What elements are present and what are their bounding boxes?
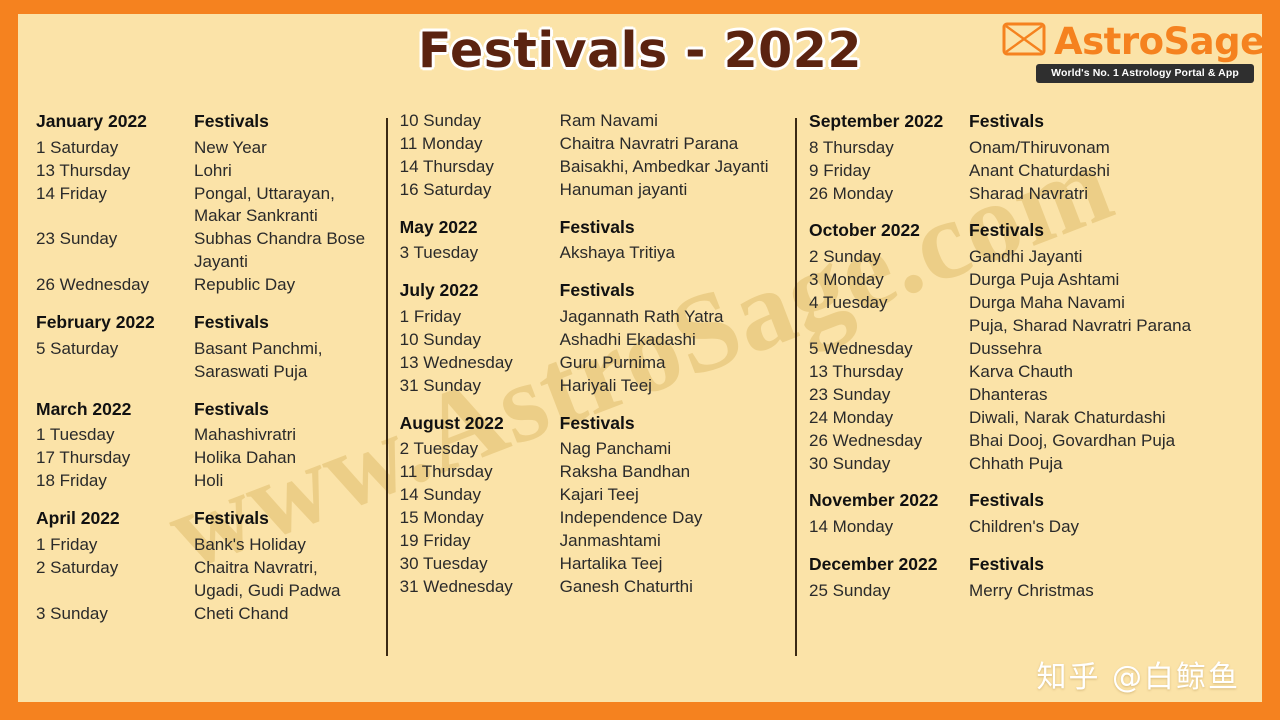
festival-row: 30 SundayChhath Puja (809, 453, 1244, 476)
festival-row: 9 FridayAnant Chaturdashi (809, 160, 1244, 183)
month-header-row: October 2022Festivals (809, 219, 1244, 243)
festival-row: 3 TuesdayAkshaya Tritiya (400, 242, 781, 265)
festival-row: 15 MondayIndependence Day (400, 507, 781, 530)
month-label: August 2022 (400, 412, 560, 436)
festival-date: 19 Friday (400, 530, 560, 553)
festival-date: 14 Thursday (400, 156, 560, 179)
astrosage-logo[interactable]: AstroSage World's No. 1 Astrology Portal… (1002, 22, 1254, 83)
festivals-column-header: Festivals (969, 553, 1244, 577)
festival-date: 3 Tuesday (400, 242, 560, 265)
festival-row: 1 FridayJagannath Rath Yatra (400, 306, 781, 329)
festival-row: 31 WednesdayGanesh Chaturthi (400, 576, 781, 599)
festival-date: 23 Sunday (36, 228, 194, 251)
festivals-column-header: Festivals (969, 489, 1244, 513)
festival-date: 30 Tuesday (400, 553, 560, 576)
festival-row: 13 ThursdayLohri (36, 160, 372, 183)
month-label: September 2022 (809, 110, 969, 134)
festival-date: 13 Thursday (809, 361, 969, 384)
month-block: August 2022Festivals2 TuesdayNag Pancham… (400, 412, 781, 599)
festival-name: Lohri (194, 160, 372, 183)
festival-date: 13 Wednesday (400, 352, 560, 375)
column-2: 10 SundayRam Navami11 MondayChaitra Navr… (386, 110, 795, 670)
festival-name: Hartalika Teej (560, 553, 781, 576)
month-block: February 2022Festivals5 SaturdayBasant P… (36, 311, 372, 384)
festival-date: 31 Sunday (400, 375, 560, 398)
month-block: April 2022Festivals1 FridayBank's Holida… (36, 507, 372, 625)
month-block: September 2022Festivals8 ThursdayOnam/Th… (809, 110, 1244, 205)
festival-row: 2 SundayGandhi Jayanti (809, 246, 1244, 269)
festival-name: Karva Chauth (969, 361, 1244, 384)
festival-name: Onam/Thiruvonam (969, 137, 1244, 160)
festival-row: 1 SaturdayNew Year (36, 137, 372, 160)
festival-name: Chaitra Navratri, Ugadi, Gudi Padwa (194, 557, 372, 603)
festival-date: 5 Saturday (36, 338, 194, 361)
festivals-column-header: Festivals (969, 110, 1244, 134)
poster-sheet: www.AstroSage.com Festivals - 2022 Astro… (18, 14, 1262, 702)
festival-row: 13 WednesdayGuru Purnima (400, 352, 781, 375)
festival-name: Raksha Bandhan (560, 461, 781, 484)
festival-date: 13 Thursday (36, 160, 194, 183)
month-block: March 2022Festivals1 TuesdayMahashivratr… (36, 398, 372, 493)
festival-date: 31 Wednesday (400, 576, 560, 599)
festival-name: Janmashtami (560, 530, 781, 553)
festival-date: 2 Saturday (36, 557, 194, 580)
festival-date: 2 Tuesday (400, 438, 560, 461)
festival-name: Holi (194, 470, 372, 493)
festival-row: 8 ThursdayOnam/Thiruvonam (809, 137, 1244, 160)
month-label: November 2022 (809, 489, 969, 513)
festival-name: Hanuman jayanti (560, 179, 781, 202)
festival-date: 26 Monday (809, 183, 969, 206)
festival-date: 9 Friday (809, 160, 969, 183)
month-block: 10 SundayRam Navami11 MondayChaitra Navr… (400, 110, 781, 202)
festival-row: 5 SaturdayBasant Panchmi, Saraswati Puja (36, 338, 372, 384)
festivals-column-header: Festivals (194, 507, 372, 531)
month-label: March 2022 (36, 398, 194, 422)
festival-row: 10 SundayRam Navami (400, 110, 781, 133)
festival-row: 14 SundayKajari Teej (400, 484, 781, 507)
festival-date: 5 Wednesday (809, 338, 969, 361)
festival-date: 1 Friday (36, 534, 194, 557)
festival-name: Bank's Holiday (194, 534, 372, 557)
festival-row: 13 ThursdayKarva Chauth (809, 361, 1244, 384)
festival-date: 11 Monday (400, 133, 560, 156)
festival-name: Mahashivratri (194, 424, 372, 447)
festival-name: Ram Navami (560, 110, 781, 133)
festivals-column-header: Festivals (560, 216, 781, 240)
festivals-column-header: Festivals (194, 110, 372, 134)
festival-row: 25 SundayMerry Christmas (809, 580, 1244, 603)
month-label: July 2022 (400, 279, 560, 303)
month-header-row: December 2022Festivals (809, 553, 1244, 577)
festival-row: 26 MondaySharad Navratri (809, 183, 1244, 206)
month-header-row: November 2022Festivals (809, 489, 1244, 513)
festival-row: 14 FridayPongal, Uttarayan, Makar Sankra… (36, 183, 372, 229)
festival-date: 11 Thursday (400, 461, 560, 484)
festival-name: Ashadhi Ekadashi (560, 329, 781, 352)
festival-date: 23 Sunday (809, 384, 969, 407)
festival-date: 3 Monday (809, 269, 969, 292)
month-label: May 2022 (400, 216, 560, 240)
festival-row: 11 ThursdayRaksha Bandhan (400, 461, 781, 484)
festival-name: Baisakhi, Ambedkar Jayanti (560, 156, 781, 179)
festival-date: 10 Sunday (400, 110, 560, 133)
festival-date: 25 Sunday (809, 580, 969, 603)
festival-name: Diwali, Narak Chaturdashi (969, 407, 1244, 430)
festival-row: 30 TuesdayHartalika Teej (400, 553, 781, 576)
month-header-row: February 2022Festivals (36, 311, 372, 335)
festival-name: Ganesh Chaturthi (560, 576, 781, 599)
festival-date: 16 Saturday (400, 179, 560, 202)
logo-tagline: World's No. 1 Astrology Portal & App (1036, 64, 1254, 83)
festival-date: 1 Saturday (36, 137, 194, 160)
festival-row: 3 SundayCheti Chand (36, 603, 372, 626)
zhihu-watermark: 知乎 @白鲸鱼 (1036, 652, 1240, 696)
festival-row: 17 ThursdayHolika Dahan (36, 447, 372, 470)
festival-name: Durga Maha Navami Puja, Sharad Navratri … (969, 292, 1244, 338)
festival-name: Akshaya Tritiya (560, 242, 781, 265)
festival-date: 14 Sunday (400, 484, 560, 507)
festival-name: Hariyali Teej (560, 375, 781, 398)
festival-date: 26 Wednesday (809, 430, 969, 453)
festival-row: 11 MondayChaitra Navratri Parana (400, 133, 781, 156)
festival-name: Chhath Puja (969, 453, 1244, 476)
festival-row: 1 TuesdayMahashivratri (36, 424, 372, 447)
festivals-column-header: Festivals (969, 219, 1244, 243)
festival-row: 23 SundayDhanteras (809, 384, 1244, 407)
month-label: December 2022 (809, 553, 969, 577)
month-header-row: September 2022Festivals (809, 110, 1244, 134)
festival-name: Merry Christmas (969, 580, 1244, 603)
festival-date: 2 Sunday (809, 246, 969, 269)
festival-row: 26 WednesdayBhai Dooj, Govardhan Puja (809, 430, 1244, 453)
festival-name: Independence Day (560, 507, 781, 530)
festival-row: 18 FridayHoli (36, 470, 372, 493)
festival-row: 1 FridayBank's Holiday (36, 534, 372, 557)
festival-row: 31 SundayHariyali Teej (400, 375, 781, 398)
month-label: April 2022 (36, 507, 194, 531)
festival-name: Guru Purnima (560, 352, 781, 375)
festival-name: Bhai Dooj, Govardhan Puja (969, 430, 1244, 453)
column-1: January 2022Festivals1 SaturdayNew Year1… (22, 110, 386, 670)
month-label: February 2022 (36, 311, 194, 335)
month-header-row: May 2022Festivals (400, 216, 781, 240)
festival-date: 18 Friday (36, 470, 194, 493)
festival-name: Chaitra Navratri Parana (560, 133, 781, 156)
festival-row: 26 WednesdayRepublic Day (36, 274, 372, 297)
festival-name: Dhanteras (969, 384, 1244, 407)
festival-row: 2 TuesdayNag Panchami (400, 438, 781, 461)
festival-name: Holika Dahan (194, 447, 372, 470)
festival-date: 10 Sunday (400, 329, 560, 352)
festival-row: 24 MondayDiwali, Narak Chaturdashi (809, 407, 1244, 430)
festival-row: 14 MondayChildren's Day (809, 516, 1244, 539)
festival-name: New Year (194, 137, 372, 160)
festival-date: 26 Wednesday (36, 274, 194, 297)
festival-name: Durga Puja Ashtami (969, 269, 1244, 292)
festival-name: Dussehra (969, 338, 1244, 361)
month-block: October 2022Festivals2 SundayGandhi Jaya… (809, 219, 1244, 475)
festival-row: 4 TuesdayDurga Maha Navami Puja, Sharad … (809, 292, 1244, 338)
column-3: September 2022Festivals8 ThursdayOnam/Th… (795, 110, 1258, 670)
festival-columns: January 2022Festivals1 SaturdayNew Year1… (18, 110, 1262, 670)
logo-wordmark: AstroSage (1054, 23, 1262, 60)
festival-name: Cheti Chand (194, 603, 372, 626)
festivals-column-header: Festivals (194, 311, 372, 335)
month-label: January 2022 (36, 110, 194, 134)
month-label: October 2022 (809, 219, 969, 243)
month-header-row: July 2022Festivals (400, 279, 781, 303)
festival-row: 16 SaturdayHanuman jayanti (400, 179, 781, 202)
festival-row: 10 SundayAshadhi Ekadashi (400, 329, 781, 352)
festival-name: Jagannath Rath Yatra (560, 306, 781, 329)
festival-name: Nag Panchami (560, 438, 781, 461)
festivals-column-header: Festivals (560, 412, 781, 436)
month-header-row: April 2022Festivals (36, 507, 372, 531)
festival-name: Republic Day (194, 274, 372, 297)
month-header-row: August 2022Festivals (400, 412, 781, 436)
festival-row: 23 SundaySubhas Chandra Bose Jayanti (36, 228, 372, 274)
festival-row: 14 ThursdayBaisakhi, Ambedkar Jayanti (400, 156, 781, 179)
astrosage-mark-icon (1002, 22, 1046, 61)
festival-date: 8 Thursday (809, 137, 969, 160)
month-block: July 2022Festivals1 FridayJagannath Rath… (400, 279, 781, 397)
festival-row: 19 FridayJanmashtami (400, 530, 781, 553)
festival-name: Pongal, Uttarayan, Makar Sankranti (194, 183, 372, 229)
festivals-column-header: Festivals (560, 279, 781, 303)
poster-header: Festivals - 2022 AstroSage World's No. 1… (18, 14, 1262, 110)
festival-name: Kajari Teej (560, 484, 781, 507)
festival-date: 14 Friday (36, 183, 194, 206)
festival-date: 4 Tuesday (809, 292, 969, 315)
festival-date: 3 Sunday (36, 603, 194, 626)
festival-date: 15 Monday (400, 507, 560, 530)
festival-date: 1 Friday (400, 306, 560, 329)
month-block: May 2022Festivals3 TuesdayAkshaya Tritiy… (400, 216, 781, 266)
festival-row: 2 SaturdayChaitra Navratri, Ugadi, Gudi … (36, 557, 372, 603)
festival-row: 3 MondayDurga Puja Ashtami (809, 269, 1244, 292)
festival-name: Gandhi Jayanti (969, 246, 1244, 269)
month-block: January 2022Festivals1 SaturdayNew Year1… (36, 110, 372, 297)
poster-frame: www.AstroSage.com Festivals - 2022 Astro… (0, 0, 1280, 720)
month-header-row: March 2022Festivals (36, 398, 372, 422)
month-header-row: January 2022Festivals (36, 110, 372, 134)
festival-name: Anant Chaturdashi (969, 160, 1244, 183)
festival-name: Subhas Chandra Bose Jayanti (194, 228, 372, 274)
festival-name: Children's Day (969, 516, 1244, 539)
festival-date: 30 Sunday (809, 453, 969, 476)
festival-row: 5 WednesdayDussehra (809, 338, 1244, 361)
festival-date: 1 Tuesday (36, 424, 194, 447)
month-block: November 2022Festivals14 MondayChildren'… (809, 489, 1244, 539)
month-block: December 2022Festivals25 SundayMerry Chr… (809, 553, 1244, 603)
festival-date: 17 Thursday (36, 447, 194, 470)
festival-name: Sharad Navratri (969, 183, 1244, 206)
festival-date: 14 Monday (809, 516, 969, 539)
festivals-column-header: Festivals (194, 398, 372, 422)
festival-name: Basant Panchmi, Saraswati Puja (194, 338, 372, 384)
festival-date: 24 Monday (809, 407, 969, 430)
